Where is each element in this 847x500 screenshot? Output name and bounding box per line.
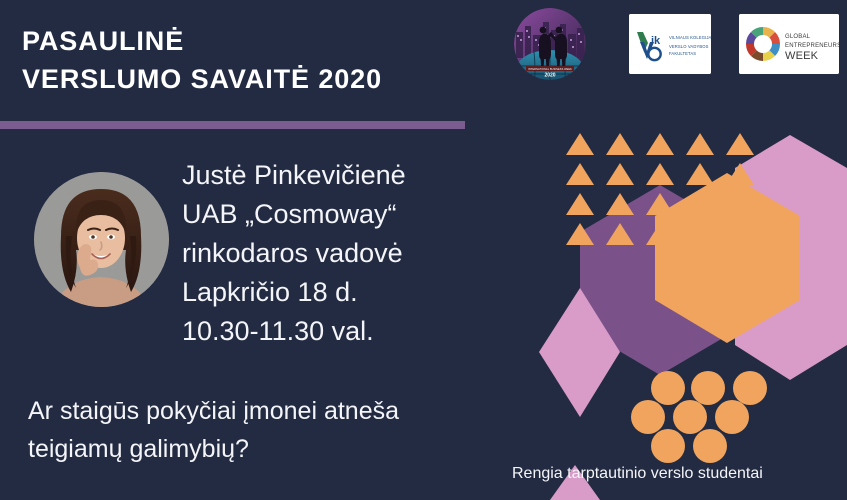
purple-hexagon — [580, 185, 740, 375]
speaker-company: UAB „Cosmoway“ — [182, 195, 522, 234]
title-divider — [0, 121, 465, 129]
svg-text:WEEK: WEEK — [785, 50, 819, 62]
question-line-2: teigiamų galimybių? — [28, 430, 528, 468]
global-entrepreneurship-week-logo: GLOBAL ENTREPRENEURSHIP WEEK — [739, 14, 839, 74]
vilniaus-kolegija-viko-logo: ik VILNIAUS KOLEGIJA VERSLO VADYBOS FAKU… — [629, 14, 711, 74]
orange-hexagon-center — [655, 173, 800, 343]
svg-text:GLOBAL: GLOBAL — [785, 34, 811, 40]
svg-text:VILNIAUS KOLEGIJA: VILNIAUS KOLEGIJA — [669, 35, 711, 40]
svg-text:ENTREPRENEURSHIP: ENTREPRENEURSHIP — [785, 43, 839, 49]
question-line-1: Ar staigūs pokyčiai įmonei atneša — [28, 392, 528, 430]
session-question: Ar staigūs pokyčiai įmonei atneša teigia… — [28, 392, 528, 468]
speaker-details: Justė Pinkevičienė UAB „Cosmoway“ rinkod… — [182, 156, 522, 350]
speaker-portrait-avatar — [34, 172, 169, 307]
svg-text:FAKULTETAS: FAKULTETAS — [669, 51, 696, 56]
event-date: Lapkričio 18 d. — [182, 273, 522, 312]
title-line-2: VERSLUMO SAVAITĖ 2020 — [22, 60, 492, 98]
speaker-role: rinkodaros vadovė — [182, 234, 522, 273]
svg-text:INTERNATIONAL BUSINESS WEEK: INTERNATIONAL BUSINESS WEEK — [528, 68, 572, 71]
svg-text:VERSLO VADYBOS: VERSLO VADYBOS — [669, 44, 709, 49]
svg-text:ik: ik — [651, 35, 661, 47]
pink-hexagon-right — [735, 135, 847, 380]
poster-title: PASAULINĖ VERSLUMO SAVAITĖ 2020 — [22, 22, 492, 99]
triangle-grid — [566, 133, 754, 245]
international-business-week-badge-logo: INTERNATIONAL BUSINESS WEEK 2020 — [514, 8, 586, 80]
organiser-note: Rengia tarptautinio verslo studentai — [512, 465, 763, 483]
title-line-1: PASAULINĖ — [22, 22, 492, 60]
svg-text:2020: 2020 — [544, 73, 555, 79]
poster-canvas: PASAULINĖ VERSLUMO SAVAITĖ 2020 — [0, 0, 847, 500]
speaker-name: Justė Pinkevičienė — [182, 156, 522, 195]
circle-cluster — [631, 371, 767, 463]
event-time: 10.30-11.30 val. — [182, 312, 522, 351]
pink-diamond — [539, 288, 620, 417]
